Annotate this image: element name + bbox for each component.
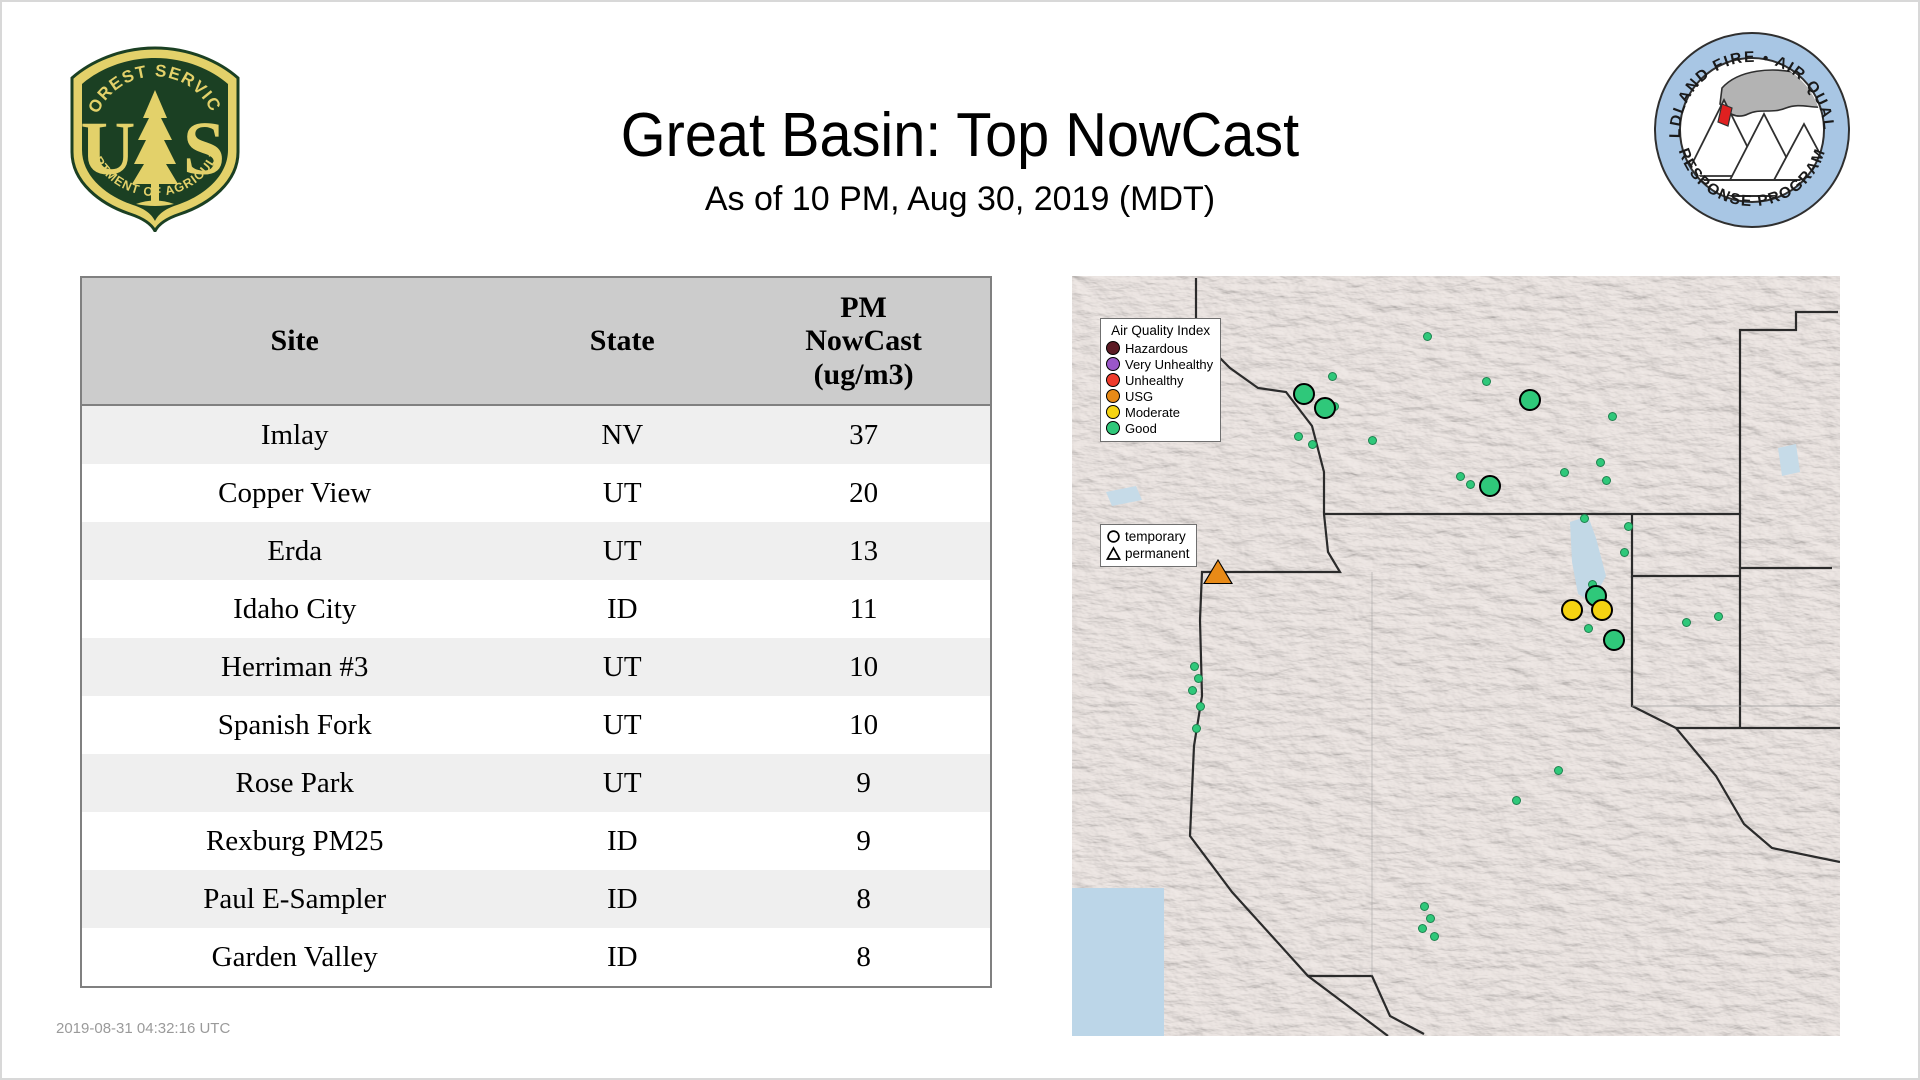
cell-site: Herriman #3	[81, 638, 507, 696]
column-header-state: State	[507, 277, 737, 405]
cell-state: UT	[507, 754, 737, 812]
cell-pm-nowcast: 9	[737, 812, 991, 870]
pm-header-line-3: (ug/m3)	[741, 358, 986, 392]
cell-state: ID	[507, 928, 737, 987]
monitor-marker-temporary[interactable]	[1479, 475, 1501, 497]
legend-permanent-row: permanent	[1105, 545, 1190, 562]
legend-temporary-row: temporary	[1105, 528, 1190, 545]
cell-site: Rose Park	[81, 754, 507, 812]
aqi-legend-label: Good	[1125, 422, 1157, 435]
pacific-ocean	[1072, 888, 1164, 1036]
aqi-legend: Air Quality Index HazardousVery Unhealth…	[1100, 318, 1221, 442]
monitor-marker-temporary[interactable]	[1620, 548, 1629, 557]
aqi-swatch-icon	[1106, 405, 1120, 419]
monitor-marker-temporary[interactable]	[1430, 932, 1439, 941]
monitor-marker-temporary[interactable]	[1194, 674, 1203, 683]
aqi-legend-label: Unhealthy	[1125, 374, 1184, 387]
page-title: Great Basin: Top NowCast	[67, 100, 1853, 171]
cell-pm-nowcast: 9	[737, 754, 991, 812]
cell-site: Copper View	[81, 464, 507, 522]
legend-temporary-label: temporary	[1125, 530, 1186, 544]
cell-site: Idaho City	[81, 580, 507, 638]
cell-site: Rexburg PM25	[81, 812, 507, 870]
aqi-swatch-icon	[1106, 421, 1120, 435]
monitor-marker-temporary[interactable]	[1591, 599, 1613, 621]
monitor-marker-temporary[interactable]	[1314, 397, 1336, 419]
monitor-marker-temporary[interactable]	[1512, 796, 1521, 805]
page-header: FOREST SERVICE U S DEPARTMENT OF AGRICUL…	[0, 0, 1920, 255]
nowcast-table-container: Site State PM NowCast (ug/m3) ImlayNV37C…	[80, 276, 992, 988]
aqi-swatch-icon	[1106, 357, 1120, 371]
pm-header-line-1: PM	[741, 291, 986, 325]
table-row: ImlayNV37	[81, 405, 991, 464]
column-header-site: Site	[81, 277, 507, 405]
aqi-legend-label: Moderate	[1125, 406, 1180, 419]
monitor-type-legend: temporary permanent	[1100, 524, 1197, 567]
cell-state: UT	[507, 522, 737, 580]
pm-header-line-2: NowCast	[741, 324, 986, 358]
aqi-legend-item: Very Unhealthy	[1106, 356, 1213, 372]
cell-state: UT	[507, 696, 737, 754]
monitor-marker-temporary[interactable]	[1560, 468, 1569, 477]
table-row: ErdaUT13	[81, 522, 991, 580]
monitor-marker-temporary[interactable]	[1368, 436, 1377, 445]
monitor-marker-temporary[interactable]	[1308, 440, 1317, 449]
table-row: Idaho CityID11	[81, 580, 991, 638]
monitor-marker-temporary[interactable]	[1608, 412, 1617, 421]
cell-state: UT	[507, 464, 737, 522]
aqi-legend-item: Unhealthy	[1106, 372, 1213, 388]
monitor-marker-temporary[interactable]	[1603, 629, 1625, 651]
cell-site: Imlay	[81, 405, 507, 464]
aqi-legend-label: Hazardous	[1125, 342, 1188, 355]
monitor-marker-temporary[interactable]	[1426, 914, 1435, 923]
aqi-legend-item: Moderate	[1106, 404, 1213, 420]
monitor-marker-temporary[interactable]	[1188, 686, 1197, 695]
page-subtitle: As of 10 PM, Aug 30, 2019 (MDT)	[0, 180, 1920, 219]
cell-pm-nowcast: 8	[737, 870, 991, 928]
cell-site: Erda	[81, 522, 507, 580]
monitor-marker-temporary[interactable]	[1554, 766, 1563, 775]
monitor-marker-temporary[interactable]	[1192, 724, 1201, 733]
monitor-marker-temporary[interactable]	[1561, 599, 1583, 621]
aqi-legend-label: Very Unhealthy	[1125, 358, 1213, 371]
aqi-legend-label: USG	[1125, 390, 1153, 403]
monitor-marker-temporary[interactable]	[1423, 332, 1432, 341]
aqi-swatch-icon	[1106, 373, 1120, 387]
monitor-marker-temporary[interactable]	[1466, 480, 1475, 489]
aqi-swatch-icon	[1106, 389, 1120, 403]
monitor-marker-temporary[interactable]	[1714, 612, 1723, 621]
table-head: Site State PM NowCast (ug/m3)	[81, 277, 991, 405]
cell-site: Paul E-Sampler	[81, 870, 507, 928]
table-row: Herriman #3UT10	[81, 638, 991, 696]
cell-pm-nowcast: 37	[737, 405, 991, 464]
cell-state: ID	[507, 580, 737, 638]
cell-state: UT	[507, 638, 737, 696]
cell-site: Spanish Fork	[81, 696, 507, 754]
monitor-marker-permanent[interactable]	[1205, 561, 1231, 583]
legend-permanent-label: permanent	[1125, 547, 1190, 561]
monitor-marker-temporary[interactable]	[1293, 383, 1315, 405]
cell-state: ID	[507, 870, 737, 928]
cell-state: ID	[507, 812, 737, 870]
table-row: Spanish ForkUT10	[81, 696, 991, 754]
monitor-marker-temporary[interactable]	[1584, 624, 1593, 633]
nowcast-table: Site State PM NowCast (ug/m3) ImlayNV37C…	[80, 276, 992, 988]
monitor-marker-temporary[interactable]	[1456, 472, 1465, 481]
air-quality-monitor-map[interactable]: Air Quality Index HazardousVery Unhealth…	[1072, 276, 1840, 1036]
monitor-marker-temporary[interactable]	[1190, 662, 1199, 671]
cell-site: Garden Valley	[81, 928, 507, 987]
table-row: Copper ViewUT20	[81, 464, 991, 522]
aqi-swatch-icon	[1106, 341, 1120, 355]
table-row: Paul E-SamplerID8	[81, 870, 991, 928]
cell-pm-nowcast: 10	[737, 696, 991, 754]
cell-pm-nowcast: 8	[737, 928, 991, 987]
table-row: Rexburg PM25ID9	[81, 812, 991, 870]
monitor-marker-temporary[interactable]	[1580, 514, 1589, 523]
table-row: Rose ParkUT9	[81, 754, 991, 812]
aqi-legend-title: Air Quality Index	[1108, 323, 1213, 338]
table-header-row: Site State PM NowCast (ug/m3)	[81, 277, 991, 405]
monitor-marker-temporary[interactable]	[1420, 902, 1429, 911]
cell-pm-nowcast: 20	[737, 464, 991, 522]
triangle-icon	[1105, 546, 1122, 561]
monitor-marker-temporary[interactable]	[1682, 618, 1691, 627]
monitor-marker-temporary[interactable]	[1328, 372, 1337, 381]
aqi-legend-item: Good	[1106, 420, 1213, 436]
table-row: Garden ValleyID8	[81, 928, 991, 987]
monitor-marker-temporary[interactable]	[1482, 377, 1491, 386]
cell-state: NV	[507, 405, 737, 464]
monitor-marker-temporary[interactable]	[1196, 702, 1205, 711]
column-header-pm-nowcast: PM NowCast (ug/m3)	[737, 277, 991, 405]
aqi-legend-item: USG	[1106, 388, 1213, 404]
wfaqrp-logo: WILDLAND FIRE • AIR QUALITY RESPONSE PRO…	[1652, 30, 1852, 230]
monitor-marker-temporary[interactable]	[1596, 458, 1605, 467]
monitor-marker-temporary[interactable]	[1294, 432, 1303, 441]
cell-pm-nowcast: 13	[737, 522, 991, 580]
generation-timestamp: 2019-08-31 04:32:16 UTC	[56, 1020, 230, 1037]
monitor-marker-temporary[interactable]	[1418, 924, 1427, 933]
table-body: ImlayNV37Copper ViewUT20ErdaUT13Idaho Ci…	[81, 405, 991, 987]
cell-pm-nowcast: 11	[737, 580, 991, 638]
monitor-marker-temporary[interactable]	[1519, 389, 1541, 411]
circle-icon	[1105, 529, 1122, 544]
aqi-legend-item: Hazardous	[1106, 340, 1213, 356]
monitor-marker-temporary[interactable]	[1602, 476, 1611, 485]
monitor-marker-temporary[interactable]	[1624, 522, 1633, 531]
cell-pm-nowcast: 10	[737, 638, 991, 696]
